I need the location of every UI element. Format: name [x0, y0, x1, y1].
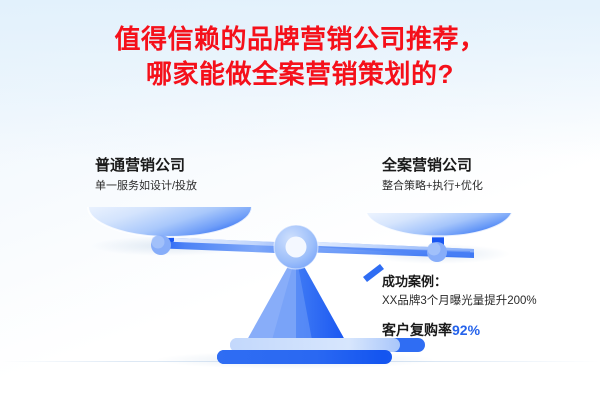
left-pan-label-subtitle: 单一服务如设计/投放 [95, 178, 197, 195]
success-case-callout: 成功案例： XX品牌3个月曝光量提升200% 客户复购率92% [382, 273, 537, 340]
callout-pointer-icon [363, 264, 384, 282]
callout-heading: 成功案例： [382, 273, 537, 291]
callout-stat-value: 92% [452, 322, 480, 338]
callout-stat: 客户复购率92% [382, 320, 537, 340]
right-pan-label-subtitle: 整合策略+执行+优化 [382, 178, 483, 195]
balance-scale-graphic [0, 0, 600, 400]
right-pan-label-title: 全案营销公司 [382, 156, 483, 176]
poster-canvas: 值得信赖的品牌营销公司推荐， 哪家能做全案营销策划的? [0, 0, 600, 400]
callout-body: XX品牌3个月曝光量提升200% [382, 292, 537, 310]
left-pan-label: 普通营销公司 单一服务如设计/投放 [95, 156, 197, 195]
scale-pivot-hub [274, 225, 318, 269]
right-pan-label: 全案营销公司 整合策略+执行+优化 [382, 156, 483, 195]
callout-stat-label: 客户复购率 [382, 322, 452, 338]
left-pan-label-title: 普通营销公司 [95, 156, 197, 176]
